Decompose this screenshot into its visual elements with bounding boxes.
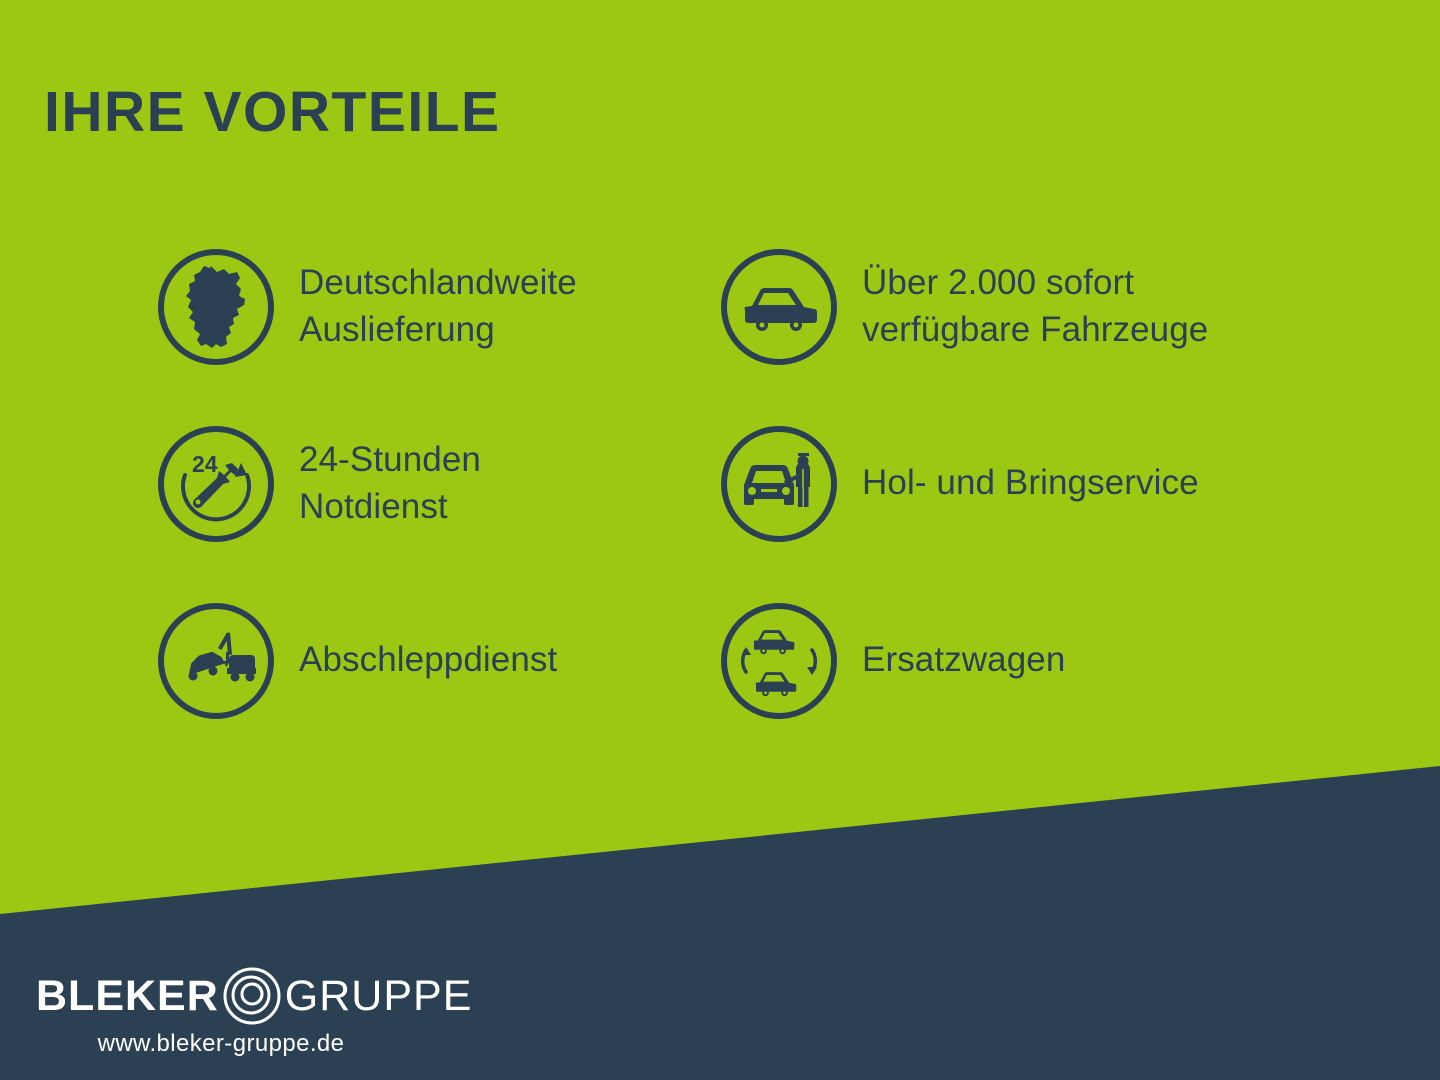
benefit-item-abschleppdienst: Abschleppdienst <box>155 572 715 749</box>
benefit-label: Ersatzwagen <box>862 637 1065 684</box>
benefits-right-column: Über 2.000 sofort verfügbare Fahrzeuge <box>718 218 1318 749</box>
benefit-label: 24-Stunden Notdienst <box>299 437 481 530</box>
slide-canvas: IHRE VORTEILE Deutschlandweite Ausliefer… <box>0 0 1440 1080</box>
benefit-item-deutschlandweite-auslieferung: Deutschlandweite Auslieferung <box>155 218 715 395</box>
page-title: IHRE VORTEILE <box>44 84 501 141</box>
spiral-circles-logo-mark <box>221 965 283 1027</box>
brand-logo[interactable]: BLEKER GRUPPE www.bleker-gruppe.de <box>36 970 472 1058</box>
benefit-item-ersatzwagen: Ersatzwagen <box>718 572 1318 749</box>
two-cars-exchange-icon <box>718 600 840 722</box>
benefit-label: Abschleppdienst <box>299 637 557 684</box>
logo-website-url[interactable]: www.bleker-gruppe.de <box>36 1030 406 1058</box>
benefit-label: Deutschlandweite Auslieferung <box>299 260 577 353</box>
logo-word-gruppe: GRUPPE <box>285 975 473 1018</box>
clock-24-wrench-icon: 24 <box>155 423 277 545</box>
tow-truck-icon <box>155 600 277 722</box>
logo-word-bleker: BLEKER <box>36 975 219 1018</box>
logo-wordmark-row: BLEKER GRUPPE <box>36 970 472 1022</box>
benefits-left-column: Deutschlandweite Auslieferung 24 <box>155 218 715 749</box>
benefit-item-hol-und-bringservice: Hol- und Bringservice <box>718 395 1318 572</box>
benefit-label: Hol- und Bringservice <box>862 460 1199 507</box>
svg-text:24: 24 <box>192 451 218 477</box>
benefit-item-verfuegbare-fahrzeuge: Über 2.000 sofort verfügbare Fahrzeuge <box>718 218 1318 395</box>
germany-map-icon <box>155 246 277 368</box>
car-with-driver-icon <box>718 423 840 545</box>
benefit-label: Über 2.000 sofort verfügbare Fahrzeuge <box>862 260 1208 353</box>
car-side-icon <box>718 246 840 368</box>
benefit-item-24-stunden-notdienst: 24 24-Stunden Notdienst <box>155 395 715 572</box>
